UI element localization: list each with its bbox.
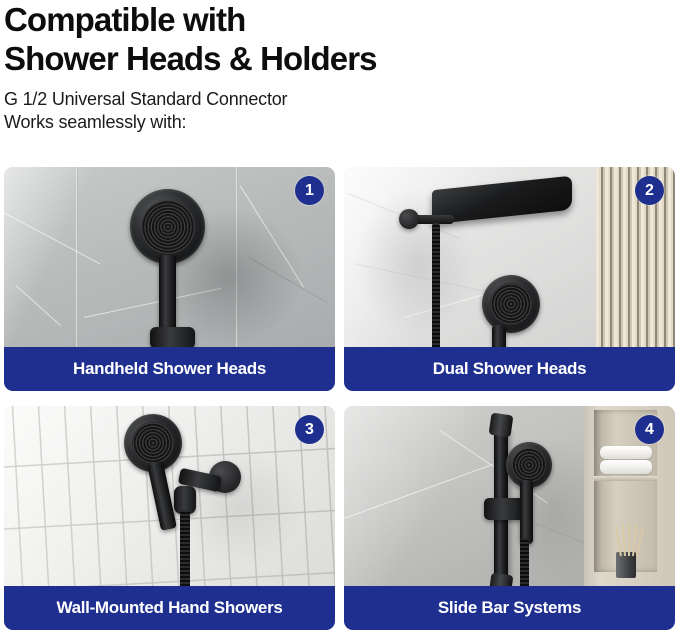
towel	[600, 446, 652, 459]
card-slide-bar-systems[interactable]: 4 Slide Bar Systems	[344, 406, 675, 630]
slide-bar-holder	[484, 498, 524, 520]
marble-wall-background	[4, 167, 335, 347]
card-dual-shower-heads[interactable]: 2 Dual Shower Heads	[344, 167, 675, 391]
card-caption-1: Handheld Shower Heads	[4, 347, 335, 391]
card-image-wall-mounted: 3	[4, 406, 335, 586]
towel	[600, 460, 652, 474]
card-caption-2: Dual Shower Heads	[344, 347, 675, 391]
card-badge-3: 3	[295, 415, 324, 444]
white-marble-background	[344, 167, 675, 347]
compatibility-card-grid: 1 Handheld Shower Heads	[4, 167, 675, 630]
card-badge-2: 2	[635, 176, 664, 205]
grey-marble-background	[344, 406, 675, 586]
card-handheld-shower-heads[interactable]: 1 Handheld Shower Heads	[4, 167, 335, 391]
handheld-shower-head-icon	[482, 275, 540, 333]
card-image-slide-bar: 4	[344, 406, 675, 586]
card-image-dual: 2	[344, 167, 675, 347]
card-badge-4: 4	[635, 415, 664, 444]
compatibility-infographic: Compatible with Shower Heads & Holders G…	[0, 0, 679, 634]
card-caption-4: Slide Bar Systems	[344, 586, 675, 630]
subway-tile-background	[4, 406, 335, 586]
card-image-handheld: 1	[4, 167, 335, 347]
card-caption-3: Wall-Mounted Hand Showers	[4, 586, 335, 630]
card-badge-1: 1	[295, 176, 324, 205]
page-title: Compatible with Shower Heads & Holders	[4, 0, 675, 78]
header: Compatible with Shower Heads & Holders G…	[0, 0, 679, 134]
page-subtitle: G 1/2 Universal Standard Connector Works…	[4, 88, 675, 134]
card-wall-mounted-hand-showers[interactable]: 3 Wall-Mounted Hand Showers	[4, 406, 335, 630]
shower-head-icon	[130, 189, 205, 264]
